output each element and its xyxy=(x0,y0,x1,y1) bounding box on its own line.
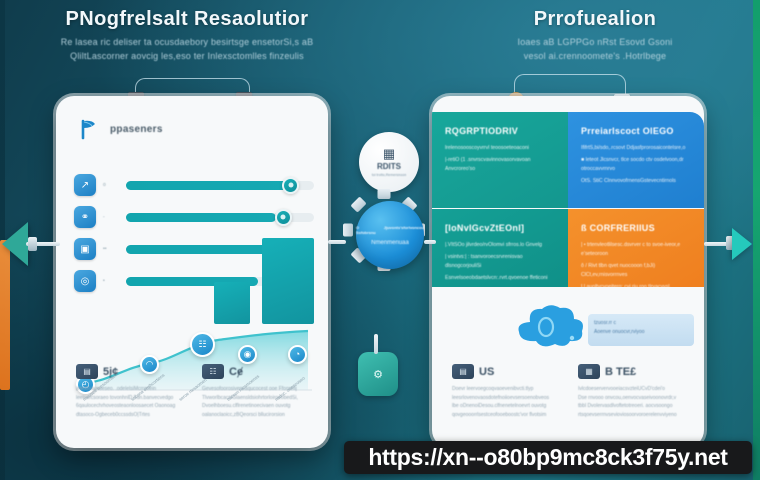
quadrant-top-left-line-1: |-retiO (1 .snvrscvavinnovasorvavoan Anv… xyxy=(445,156,555,174)
quadrant-top-left-title: RQGRPTIODRIV xyxy=(445,126,555,136)
left-card-stat-1-header: ☷ Cɇ xyxy=(202,364,310,379)
gear-tooth-0 xyxy=(377,189,390,199)
left-card-stat-0: ▤ 5į¢ letestoaunoeseo. .odelelsiMcrrooei… xyxy=(76,364,184,419)
quadrant-top-right-line-2: OtS. StiC ClnnvovofrnensGstevecntirnols xyxy=(581,177,691,186)
quadrant-bottom-left-title: [IoNvIGcvZtEOnI] xyxy=(445,223,555,233)
infographic-canvas: PNogfrelsalt Resaolutior Re lasea ric de… xyxy=(0,0,760,480)
hub-gear-caption: Nmenmeriuaa xyxy=(371,240,409,246)
url-watermark-banner: https://xn--o80bp9mc8ck3f75y.net xyxy=(344,441,752,474)
hub-left-connector xyxy=(328,240,346,244)
right-card-stat-1-header: ▦ B TE£ xyxy=(578,364,686,379)
clipboard-icon: ☷ xyxy=(202,364,224,379)
right-card-panel[interactable]: RQGRPTIODRIV lrelenosooscoyvrrvl teoosoe… xyxy=(432,96,704,448)
progress-row-0-fill xyxy=(126,181,288,190)
quadrant-top-right[interactable]: Prreiarlscoct OlEGO IfifrtS,bi/sdo,.rcso… xyxy=(568,112,704,208)
right-card-stat-0-line-3: qovgeooorrlsestceofooeboostc'vor flvotsi… xyxy=(452,411,560,420)
id-badge-icon: ▤ xyxy=(76,364,98,379)
cloud-callout: tzuosr.rr c Aoenve onuocvr,rviyoo xyxy=(588,314,694,346)
progress-row-2-label: •• xyxy=(103,246,119,252)
progress-row-0[interactable]: ↗ o xyxy=(74,174,314,196)
left-section-heading: PNogfrelsalt Resaolutior Re lasea ric de… xyxy=(52,8,322,63)
left-card-header-label: ppaseners xyxy=(110,124,163,135)
clock-node-icon[interactable]: ◔ xyxy=(288,345,307,364)
cloud-callout-line-2: Aoenve onuocvr,rviyoo xyxy=(594,328,688,337)
progress-row-1[interactable]: ⚭ - xyxy=(74,206,314,228)
quadrant-bottom-left-line-0: |.VItSOo jilvrdeo/rvOlomvi sfrros.lo Gnv… xyxy=(445,241,555,250)
grid-icon: ▦ xyxy=(383,147,395,160)
eye-node-icon[interactable]: ◉ xyxy=(238,345,257,364)
flag-logo-icon xyxy=(78,118,100,140)
progress-row-0-knob[interactable] xyxy=(282,177,299,194)
hub-badge-title: RDITS xyxy=(377,162,401,171)
right-card-stat-1-line-0: IvlcdoeservervooeiacsvzteiUCvD'cdei'o xyxy=(578,385,686,394)
right-card-stat-1-line-2: tbbl Dvolervasdlvoftetotreoeri. aocvsoon… xyxy=(578,402,686,411)
right-section-heading: Prrofuealion Ioaes aB LGPPGo nRst Esovd … xyxy=(470,8,720,63)
id-badge-icon: ▤ xyxy=(452,364,474,379)
right-heading-subtitle-2: vesol ai.crennoomete's .Hotrlbege xyxy=(470,50,720,63)
link-icon: ⚭ xyxy=(74,206,96,228)
quadrant-bottom-right-line-1: ô / Rivt tlbn qvet nuocooon f,bJi) ClCt,… xyxy=(581,262,691,280)
left-card-stat-1-line-0: Gevesofoorosivenvaqucocest ooe Ffonrefij xyxy=(202,385,310,394)
location-icon: ◎ xyxy=(74,270,96,292)
right-heading-subtitle-1: Ioaes aB LGPPGo nRst Esovd Gsoni xyxy=(470,36,720,49)
hub-gear-left-label: O Ssfobrsnu xyxy=(356,225,376,235)
left-card-stat-0-value: 5į¢ xyxy=(103,366,118,378)
left-card-stat-0-line-0: letestoaunoeseo. .odelelsiMcrrooein xyxy=(76,385,184,394)
progress-row-1-track[interactable] xyxy=(126,213,314,222)
watermark-url-text: https://xn--o80bp9mc8ck3f75y.net xyxy=(368,444,727,471)
hub-bottom-stem xyxy=(374,334,378,354)
right-edge-accent-strip xyxy=(753,0,760,480)
hub-right-connector xyxy=(424,240,436,244)
cloud-callout-line-1: tzuosr.rr c xyxy=(594,319,688,328)
doc-node-icon[interactable]: ☷ xyxy=(190,332,215,357)
right-arrow-marker xyxy=(732,228,752,260)
quadrant-top-right-line-0: IfifrtS,bi/sdo,.rcsovt Ddjasfprorosaicon… xyxy=(581,144,691,153)
cloud-blob-icon xyxy=(510,339,588,356)
left-card-stat-0-header: ▤ 5į¢ xyxy=(76,364,184,379)
progress-row-1-knob[interactable] xyxy=(275,209,292,226)
quadrant-top-right-line-1: ■ leteot Jlcsnvcr, tlce socdo ctv osdelv… xyxy=(581,156,691,174)
hub-gear-labels: O Ssfobrsnu Jjuvonts'sforlvoncou xyxy=(356,225,424,235)
quadrant-top-right-title: Prreiarlscoct OlEGO xyxy=(581,126,691,136)
progress-row-0-track[interactable] xyxy=(126,181,314,190)
quadrant-bottom-left-line-2: Esnvelsoeobdaetslvcn:.rvrt.qvoenoe ffeti… xyxy=(445,274,555,283)
bottom-hub-chip[interactable]: ⚙ xyxy=(358,352,398,396)
progress-row-1-label: - xyxy=(103,214,119,220)
left-card-stat-1-line-2: Dvoelhboesu.clflrenetinoecivaen ouvotg xyxy=(202,402,310,411)
quadrant-bottom-right-line-0: | • trtenvleotlilsesc.dsvrver c to svoe-… xyxy=(581,241,691,259)
cloud-section: tzuosr.rr c Aoenve onuocvr,rviyoo xyxy=(510,302,700,358)
monitor-icon: ▣ xyxy=(74,238,96,260)
quadrant-bottom-left[interactable]: [IoNvIGcvZtEOnI] |.VItSOo jilvrdeo/rvOlo… xyxy=(432,209,568,287)
left-card-stat-1-line-1: TlvworlbcacniGlaensldsiohrtorloiroeobedS… xyxy=(202,394,310,403)
gear-tooth-6 xyxy=(343,224,353,237)
quadrant-bottom-left-line-1: | vsintvs:| : tsanvoroecsrvrenisvao dlsn… xyxy=(445,253,555,271)
progress-row-3-label: • xyxy=(103,278,119,284)
hub-gear-right-label: Jjuvonts'sforlvoncou xyxy=(384,225,424,235)
left-heading-subtitle-1: Re lasea ric deliser ta ocusdaebory besi… xyxy=(52,36,322,49)
bar-tall xyxy=(262,238,314,324)
right-card-stat-0-line-1: leesrlovenovaosdotefnoiioevsersoenobveos xyxy=(452,394,560,403)
left-card-stat-1-value: Cɇ xyxy=(229,366,243,378)
bar-small xyxy=(214,282,250,324)
right-card-stat-0: ▤ US Doevr leervoegcoqvaoevenibvcti.tlyp… xyxy=(452,364,560,419)
hub-badge[interactable]: ▦ RDITS toi trotto,Remersnoon xyxy=(359,132,419,192)
left-card-stat-1-line-3: oalanoclaoicc,zBQeorsci bllucirorsion xyxy=(202,411,310,420)
chart-icon: ↗ xyxy=(74,174,96,196)
right-card-stat-1: ▦ B TE£ IvlcdoeservervooeiacsvzteiUCvD'c… xyxy=(578,364,686,419)
left-card-stat-1: ☷ Cɇ Gevesofoorosivenvaqucocest ooe Ffon… xyxy=(202,364,310,419)
left-connector-nut xyxy=(28,237,37,251)
right-card-stat-1-line-3: rtsqoevserrnvsevioviosoorvoroerelenvviye… xyxy=(578,411,686,420)
right-card-stat-0-value: US xyxy=(479,366,494,378)
right-card-stat-0-header: ▤ US xyxy=(452,364,560,379)
left-card-stat-0-line-1: leelnvrcsoraeo tovonhnlD 5dn.banvecvedgo xyxy=(76,394,184,403)
left-card-panel[interactable]: ppaseners ↗ o ⚭ - ▣ •• xyxy=(56,96,328,448)
right-card-stat-1-line-1: Dse rnvooo onvcou,oenvocvaseivoonovrdr,v xyxy=(578,394,686,403)
right-card-stat-0-line-2: lbe oDnenoiDesou.clfnenetelnoevrt ouvotg xyxy=(452,402,560,411)
hub-gear[interactable]: O Ssfobrsnu Jjuvonts'sforlvoncou Nmenmer… xyxy=(349,194,431,276)
left-heading-subtitle-2: QliltLascorner aovcig les,eso ter Inlexs… xyxy=(52,50,322,63)
hub-badge-subtitle: toi trotto,Remersnoon xyxy=(372,173,407,177)
left-card-stat-0-line-2: 6qaulocechrhoveosteaonloosaecet Oaonoag xyxy=(76,402,184,411)
quadrant-bottom-right-title: ß CORFRERIIUS xyxy=(581,223,691,233)
hub-gear-core[interactable]: O Ssfobrsnu Jjuvonts'sforlvoncou Nmenmer… xyxy=(356,201,424,269)
quadrant-bottom-right[interactable]: ß CORFRERIIUS | • trtenvleotlilsesc.dsvr… xyxy=(568,209,704,287)
left-card-header: ppaseners xyxy=(78,118,163,140)
left-heading-title: PNogfrelsalt Resaolutior xyxy=(52,8,322,31)
progress-row-1-fill xyxy=(126,213,276,222)
news-icon: ▦ xyxy=(578,364,600,379)
right-heading-title: Prrofuealion xyxy=(470,8,720,31)
right-card-stat-1-value: B TE£ xyxy=(605,366,636,378)
left-card-stat-0-line-3: dtasoco-Ogbeceb0ccssdsO|Trtes xyxy=(76,411,184,420)
right-card-stat-0-line-0: Doevr leervoegcoqvaoevenibvcti.tlyp xyxy=(452,385,560,394)
quadrant-top-left[interactable]: RQGRPTIODRIV lrelenosooscoyvrrvl teoosoe… xyxy=(432,112,568,208)
center-hub[interactable]: ▦ RDITS toi trotto,Remersnoon O Ssfobrsn… xyxy=(345,132,435,292)
gear-tooth-7 xyxy=(350,196,366,212)
progress-row-0-label: o xyxy=(103,182,119,188)
quadrant-top-left-line-0: lrelenosooscoyvrrvl teoosoeteoaconi xyxy=(445,144,555,153)
quadrant-bottom-right-line-2: Ll auoltvcvoeitero: cvi riu,roo tlrvacvv… xyxy=(581,283,691,287)
